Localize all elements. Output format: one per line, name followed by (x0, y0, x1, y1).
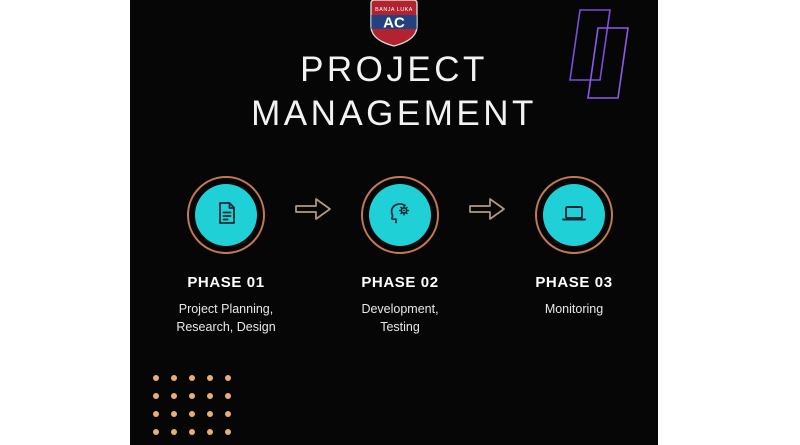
document-icon (212, 199, 240, 232)
phase-02-disc (369, 184, 431, 246)
grid-dot (207, 411, 213, 417)
grid-dot (207, 429, 213, 435)
title-line-2: MANAGEMENT (130, 92, 658, 136)
page-title: PROJECT MANAGEMENT (130, 48, 658, 136)
phase-01-description-line-1: Project Planning, (179, 302, 274, 316)
phase-03-disc (543, 184, 605, 246)
grid-dot (189, 429, 195, 435)
head-gear-icon (385, 198, 415, 233)
grid-dot (207, 375, 213, 381)
grid-dot (225, 411, 231, 417)
logo-top-text: BANJA LUKA (375, 7, 413, 13)
phase-item-01: PHASE 01 Project Planning, Research, Des… (152, 176, 300, 336)
grid-dot (225, 393, 231, 399)
phase-01-description: Project Planning, Research, Design (176, 300, 275, 336)
phase-item-03: PHASE 03 Monitoring (500, 176, 648, 318)
laptop-icon (559, 198, 589, 233)
phase-01-ring (187, 176, 265, 254)
grid-dot (207, 393, 213, 399)
poster-canvas: BANJA LUKA AC PROJECT MANAGEMENT (130, 0, 658, 445)
title-line-1: PROJECT (130, 48, 658, 92)
phase-item-02: PHASE 02 Development, Testing (326, 176, 474, 336)
dot-grid-decoration (153, 375, 231, 435)
grid-dot (153, 375, 159, 381)
grid-dot (189, 375, 195, 381)
phase-03-title: PHASE 03 (535, 274, 612, 291)
grid-dot (189, 411, 195, 417)
poster-stage: BANJA LUKA AC PROJECT MANAGEMENT (0, 0, 800, 445)
grid-dot (171, 393, 177, 399)
grid-dot (153, 411, 159, 417)
phase-03-description-line-1: Monitoring (545, 302, 603, 316)
grid-dot (153, 393, 159, 399)
phase-02-description-line-1: Development, (361, 302, 438, 316)
phase-01-description-line-2: Research, Design (176, 320, 275, 334)
grid-dot (189, 393, 195, 399)
phase-03-description: Monitoring (545, 300, 603, 318)
grid-dot (225, 429, 231, 435)
grid-dot (171, 375, 177, 381)
phase-02-description-line-2: Testing (380, 320, 420, 334)
grid-dot (171, 411, 177, 417)
grid-dot (171, 429, 177, 435)
phase-02-title: PHASE 02 (361, 274, 438, 291)
grid-dot (225, 375, 231, 381)
phase-list: PHASE 01 Project Planning, Research, Des… (164, 176, 636, 336)
phase-01-disc (195, 184, 257, 246)
ac-banja-luka-shield-logo: BANJA LUKA AC (368, 0, 420, 48)
phase-02-description: Development, Testing (361, 300, 438, 336)
phase-02-ring (361, 176, 439, 254)
phase-01-title: PHASE 01 (187, 274, 264, 291)
phase-03-ring (535, 176, 613, 254)
logo-monogram: AC (383, 15, 405, 32)
grid-dot (153, 429, 159, 435)
